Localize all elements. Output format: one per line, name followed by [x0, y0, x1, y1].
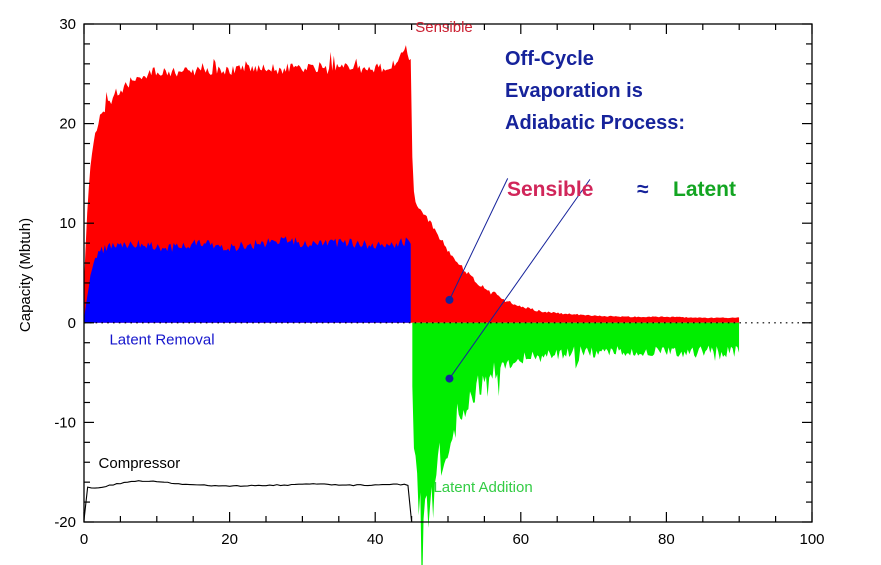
callout-line-1: Off-Cycle [505, 48, 594, 70]
latent-removal-series-label: Latent Removal [109, 332, 214, 349]
callout-line-3: Adiabatic Process: [505, 112, 685, 134]
x-axis-tick-label: 0 [80, 531, 88, 548]
y-axis-title: Capacity (Mbtuh) [17, 218, 34, 332]
x-axis-tick-label: 20 [221, 531, 238, 548]
sensible-series-label: Sensible [415, 19, 473, 36]
chart-canvas: -20-100102030020406080100 Capacity (Mbtu… [0, 0, 881, 565]
callout-sensible-word: Sensible [507, 178, 593, 201]
sensible-leader-endpoint-dot [445, 296, 453, 304]
y-axis-tick-label: -10 [54, 414, 76, 431]
x-axis-tick-label: 60 [512, 531, 529, 548]
x-axis-tick-label: 40 [367, 531, 384, 548]
y-axis-tick-label: 20 [59, 116, 76, 133]
callout-line-2: Evaporation is [505, 80, 643, 102]
y-axis-tick-label: 30 [59, 16, 76, 33]
callout-approx-symbol: ≈ [637, 178, 649, 201]
x-axis-tick-label: 100 [799, 531, 824, 548]
area-latent-removal [84, 236, 411, 322]
latent-leader-endpoint-dot [445, 375, 453, 383]
y-axis-tick-label: 10 [59, 215, 76, 232]
y-axis-tick-label: -20 [54, 514, 76, 531]
compressor-series-label: Compressor [99, 455, 181, 472]
chart-figure: -20-100102030020406080100 Capacity (Mbtu… [0, 0, 881, 565]
y-axis-tick-label: 0 [68, 315, 76, 332]
callout-latent-word: Latent [673, 178, 736, 201]
latent-addition-series-label: Latent Addition [433, 479, 532, 496]
x-axis-tick-label: 80 [658, 531, 675, 548]
